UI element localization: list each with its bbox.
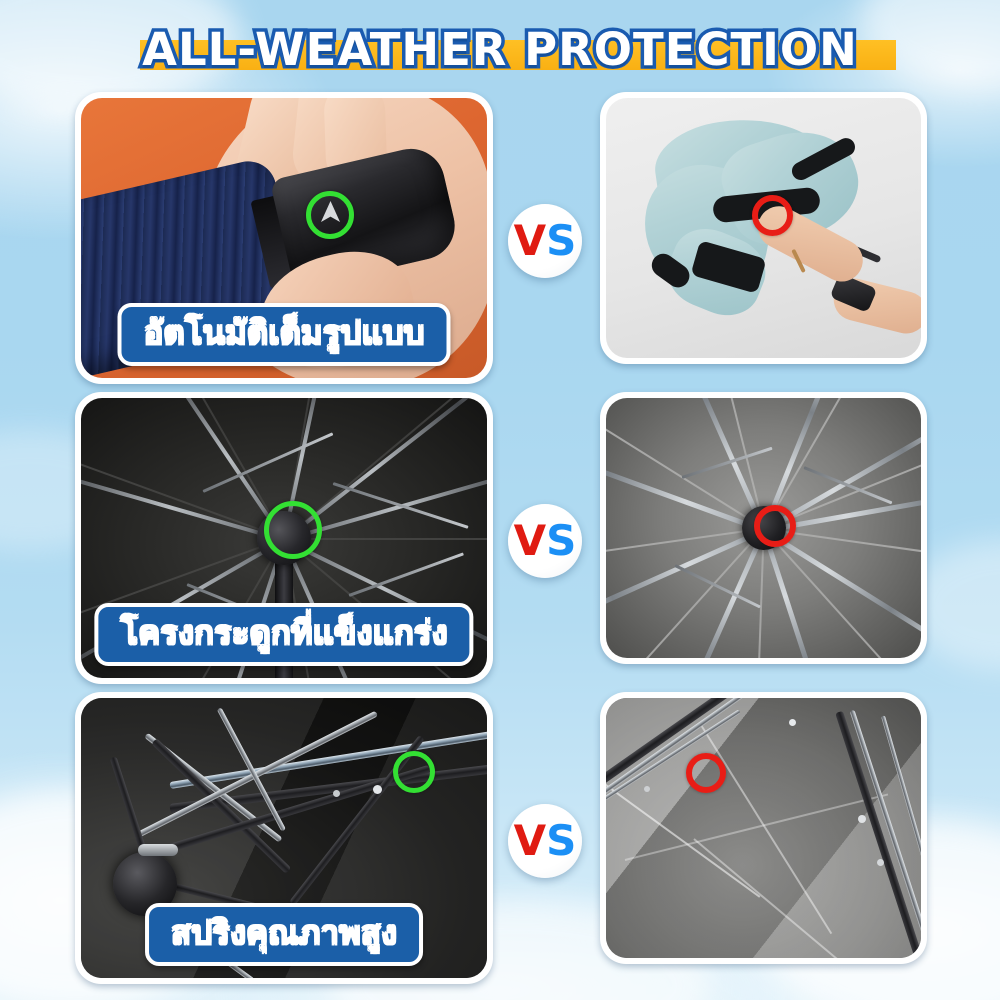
good-highlight-ring bbox=[264, 501, 322, 559]
good-highlight-ring bbox=[393, 751, 435, 793]
good-label-text: อัตโนมัติเต็มรูปแบบ bbox=[143, 313, 424, 352]
vs-s-letter: S bbox=[546, 220, 576, 262]
good-label-badge: โครงกระดูกที่แข็งแกร่ง bbox=[94, 603, 473, 666]
comparison-row-high-quality-spring: สปริงคุณภาพสูง VS bbox=[0, 692, 1000, 984]
good-label-badge: อัตโนมัติเต็มรูปแบบ bbox=[117, 303, 450, 366]
vs-v-letter: V bbox=[514, 220, 547, 262]
bad-card-strong-frame[interactable] bbox=[600, 392, 927, 664]
bad-highlight-ring bbox=[754, 505, 796, 547]
photo-black-umbrella-interior-reinforced-hub: โครงกระดูกที่แข็งแกร่ง bbox=[81, 398, 487, 678]
page-title: ALL-WEATHER PROTECTION bbox=[0, 14, 1000, 84]
bad-highlight-ring bbox=[686, 753, 726, 793]
vs-badge-strong-frame: VS bbox=[508, 504, 582, 578]
good-label-text: สปริงคุณภาพสูง bbox=[171, 913, 397, 952]
bad-highlight-ring bbox=[752, 195, 793, 236]
photo-hand-manually-folding-light-blue-umbrella bbox=[606, 98, 921, 358]
vs-s-letter: S bbox=[546, 820, 576, 862]
photo-gray-umbrella-rib-joint-closeup bbox=[606, 698, 921, 958]
comparison-row-strong-frame: โครงกระดูกที่แข็งแกร่ง VS bbox=[0, 392, 1000, 684]
good-label-badge: สปริงคุณภาพสูง bbox=[145, 903, 423, 966]
vs-badge-high-quality-spring: VS bbox=[508, 804, 582, 878]
page-title-text: ALL-WEATHER PROTECTION bbox=[142, 23, 858, 76]
comparison-row-auto-open: อัตโนมัติเต็มรูปแบบ VS bbox=[0, 92, 1000, 384]
good-label-text: โครงกระดูกที่แข็งแกร่ง bbox=[120, 613, 447, 652]
photo-hand-holding-navy-auto-umbrella-handle: อัตโนมัติเต็มรูปแบบ bbox=[81, 98, 487, 378]
good-card-high-quality-spring[interactable]: สปริงคุณภาพสูง bbox=[75, 692, 493, 984]
good-card-auto-open[interactable]: อัตโนมัติเต็มรูปแบบ bbox=[75, 92, 493, 384]
bad-card-auto-open[interactable] bbox=[600, 92, 927, 364]
good-card-strong-frame[interactable]: โครงกระดูกที่แข็งแกร่ง bbox=[75, 392, 493, 684]
vs-v-letter: V bbox=[514, 820, 547, 862]
photo-black-umbrella-rib-spring-closeup: สปริงคุณภาพสูง bbox=[81, 698, 487, 978]
photo-gray-umbrella-interior-weak-hub bbox=[606, 398, 921, 658]
vs-v-letter: V bbox=[514, 520, 547, 562]
vs-badge-auto-open: VS bbox=[508, 204, 582, 278]
bad-card-high-quality-spring[interactable] bbox=[600, 692, 927, 964]
vs-s-letter: S bbox=[546, 520, 576, 562]
